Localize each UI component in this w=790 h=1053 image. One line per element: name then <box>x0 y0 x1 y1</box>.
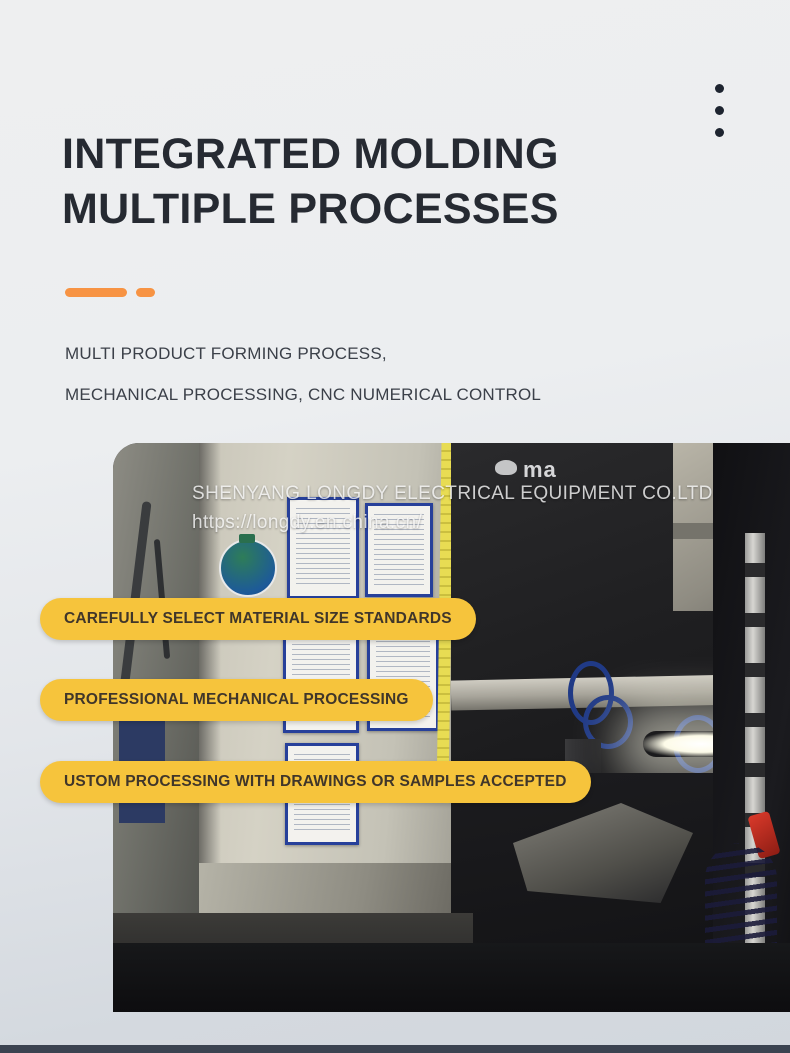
wall-pipe-1 <box>119 501 151 691</box>
kebab-dot-2 <box>715 106 724 115</box>
rail-segment <box>745 613 765 627</box>
kebab-dot-3 <box>715 128 724 137</box>
machine-brand-mark-icon <box>495 460 517 475</box>
floor-foreground <box>113 943 790 1012</box>
machine-photo: ma <box>113 443 790 1012</box>
rail-segment <box>745 713 765 727</box>
page-title: INTEGRATED MOLDING MULTIPLE PROCESSES <box>62 127 682 237</box>
promo-banner: INTEGRATED MOLDING MULTIPLE PROCESSES MU… <box>0 0 790 1053</box>
bottom-strip <box>0 1045 790 1053</box>
subtitle-block: MULTI PRODUCT FORMING PROCESS, MECHANICA… <box>65 344 705 405</box>
feature-badge-1[interactable]: CAREFULLY SELECT MATERIAL SIZE STANDARDS <box>40 598 476 640</box>
accent-divider <box>65 288 155 297</box>
certification-badge-icon <box>219 539 277 597</box>
feature-badge-3[interactable]: USTOM PROCESSING WITH DRAWINGS OR SAMPLE… <box>40 761 591 803</box>
divider-bar-long <box>65 288 127 297</box>
kebab-menu-icon[interactable] <box>715 84 724 137</box>
divider-bar-short <box>136 288 155 297</box>
certification-tab <box>239 534 255 543</box>
kebab-dot-1 <box>715 84 724 93</box>
notice-poster <box>365 503 433 597</box>
rail-segment <box>745 763 765 777</box>
subtitle-line-1: MULTI PRODUCT FORMING PROCESS, <box>65 344 705 364</box>
subtitle-line-2: MECHANICAL PROCESSING, CNC NUMERICAL CON… <box>65 385 705 405</box>
notice-poster <box>287 497 359 599</box>
feature-badge-2-label: PROFESSIONAL MECHANICAL PROCESSING <box>64 691 409 709</box>
feature-badge-2[interactable]: PROFESSIONAL MECHANICAL PROCESSING <box>40 679 433 721</box>
rail-segment <box>745 563 765 577</box>
machine-brand-label: ma <box>523 457 557 483</box>
feature-badge-3-label: USTOM PROCESSING WITH DRAWINGS OR SAMPLE… <box>64 773 567 791</box>
feature-badge-1-label: CAREFULLY SELECT MATERIAL SIZE STANDARDS <box>64 610 452 628</box>
rail-segment <box>745 663 765 677</box>
